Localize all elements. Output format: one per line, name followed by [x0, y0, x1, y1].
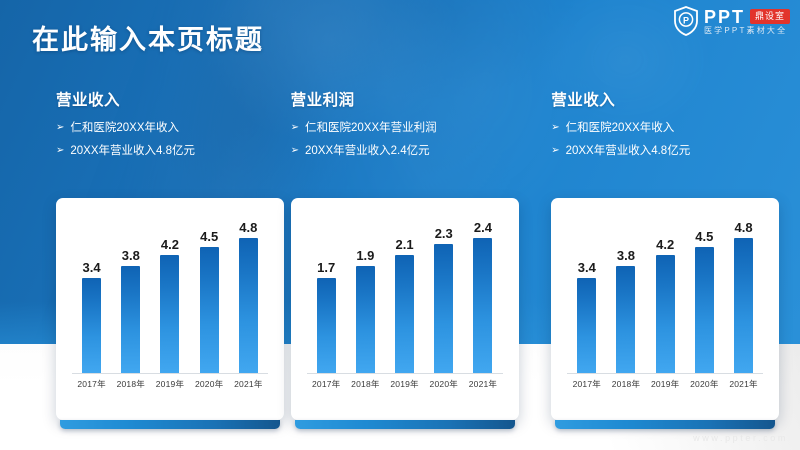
columns-container: 营业收入 ➢ 仁和医院20XX年收入 ➢ 20XX年营业收入4.8亿元 3.4	[0, 88, 800, 428]
bar-group: 2.1	[387, 216, 422, 373]
bar-group: 3.4	[569, 216, 604, 373]
column-2-title: 营业利润	[291, 88, 534, 110]
bar	[121, 266, 140, 373]
bar-group: 3.4	[74, 216, 109, 373]
bar-chart-1: 3.4 3.8 4.2 4.5	[66, 210, 274, 410]
bar-value-label: 4.5	[695, 230, 713, 243]
site-watermark: www.ppter.com	[693, 433, 788, 443]
column-3-title: 营业收入	[551, 88, 800, 110]
bar-group: 4.5	[192, 216, 227, 373]
x-tick-label: 2018年	[608, 378, 643, 390]
x-tick-label: 2019年	[648, 378, 683, 390]
bar	[239, 238, 258, 373]
bullet-text: 仁和医院20XX年营业利润	[305, 121, 437, 137]
x-tick-label: 2018年	[348, 378, 383, 390]
x-tick-label: 2018年	[113, 378, 148, 390]
bar-chart-3: 3.4 3.8 4.2 4.5	[561, 210, 769, 410]
bar	[577, 278, 596, 373]
card-1-accent-bar	[60, 420, 280, 429]
chevron-bullet-icon: ➢	[291, 144, 299, 159]
x-tick-label: 2020年	[687, 378, 722, 390]
shield-icon: P	[673, 6, 699, 36]
chevron-bullet-icon: ➢	[551, 144, 559, 159]
bar	[616, 266, 635, 373]
x-tick-label: 2017年	[309, 378, 344, 390]
bar-value-label: 4.2	[161, 238, 179, 251]
chart-card-1: 3.4 3.8 4.2 4.5	[56, 198, 284, 420]
chevron-bullet-icon: ➢	[551, 121, 559, 136]
x-tick-label: 2019年	[387, 378, 422, 390]
column-1-bullets: ➢ 仁和医院20XX年收入 ➢ 20XX年营业收入4.8亿元	[56, 121, 267, 159]
bar	[82, 278, 101, 373]
bullet-text: 仁和医院20XX年收入	[70, 121, 179, 137]
svg-text:P: P	[683, 15, 689, 25]
bar-value-label: 2.3	[435, 227, 453, 240]
chevron-bullet-icon: ➢	[291, 121, 299, 136]
bar-group: 4.8	[726, 216, 761, 373]
brand-logo: P PPT 鼎设室 医学PPT素材大全	[673, 6, 790, 36]
column-1-title: 营业收入	[56, 88, 267, 110]
bar-group: 4.5	[687, 216, 722, 373]
bar-value-label: 3.4	[578, 261, 596, 274]
bar	[395, 255, 414, 373]
bar-group: 1.7	[309, 216, 344, 373]
chart-2-x-axis: 2017年 2018年 2019年 2020年 2021年	[307, 378, 503, 390]
chart-card-2: 1.7 1.9 2.1 2.3	[291, 198, 519, 420]
bullet-text: 20XX年营业收入2.4亿元	[305, 144, 430, 160]
chart-2-plot-area: 1.7 1.9 2.1 2.3	[307, 216, 503, 374]
bar-group: 3.8	[608, 216, 643, 373]
logo-subtitle: 医学PPT素材大全	[704, 27, 790, 35]
chevron-bullet-icon: ➢	[56, 144, 64, 159]
bar	[473, 238, 492, 373]
bar-value-label: 3.8	[617, 249, 635, 262]
bar	[356, 266, 375, 373]
chart-1-plot-area: 3.4 3.8 4.2 4.5	[72, 216, 268, 374]
list-item: ➢ 20XX年营业收入4.8亿元	[56, 144, 267, 160]
bar-group: 2.4	[465, 216, 500, 373]
bar-chart-2: 1.7 1.9 2.1 2.3	[301, 210, 509, 410]
list-item: ➢ 仁和医院20XX年营业利润	[291, 121, 534, 137]
bar-group: 4.8	[231, 216, 266, 373]
x-tick-label: 2021年	[465, 378, 500, 390]
bar-value-label: 1.9	[356, 249, 374, 262]
bar	[656, 255, 675, 373]
chevron-bullet-icon: ➢	[56, 121, 64, 136]
chart-3-x-axis: 2017年 2018年 2019年 2020年 2021年	[567, 378, 763, 390]
logo-badge: 鼎设室	[750, 9, 790, 24]
chart-1-x-axis: 2017年 2018年 2019年 2020年 2021年	[72, 378, 268, 390]
bar	[734, 238, 753, 373]
column-2: 营业利润 ➢ 仁和医院20XX年营业利润 ➢ 20XX年营业收入2.4亿元 1.…	[267, 88, 534, 428]
bar	[434, 244, 453, 373]
bar	[317, 278, 336, 373]
x-tick-label: 2021年	[726, 378, 761, 390]
column-1: 营业收入 ➢ 仁和医院20XX年收入 ➢ 20XX年营业收入4.8亿元 3.4	[0, 88, 267, 428]
bar-value-label: 2.4	[474, 221, 492, 234]
bullet-text: 20XX年营业收入4.8亿元	[566, 144, 691, 160]
page-title: 在此输入本页标题	[32, 18, 264, 57]
bar	[200, 247, 219, 373]
slide-canvas: 在此输入本页标题 P PPT 鼎设室 医学PPT素材大全 营业收入 ➢ 仁和医院	[0, 0, 800, 450]
chart-3-plot-area: 3.4 3.8 4.2 4.5	[567, 216, 763, 374]
bar-value-label: 4.8	[734, 221, 752, 234]
list-item: ➢ 20XX年营业收入4.8亿元	[551, 144, 800, 160]
column-2-bullets: ➢ 仁和医院20XX年营业利润 ➢ 20XX年营业收入2.4亿元	[291, 121, 534, 159]
bar-value-label: 1.7	[317, 261, 335, 274]
x-tick-label: 2021年	[231, 378, 266, 390]
bar	[695, 247, 714, 373]
bar-value-label: 3.8	[122, 249, 140, 262]
list-item: ➢ 20XX年营业收入2.4亿元	[291, 144, 534, 160]
chart-card-3: 3.4 3.8 4.2 4.5	[551, 198, 779, 420]
bar-group: 3.8	[113, 216, 148, 373]
x-tick-label: 2020年	[426, 378, 461, 390]
bar-group: 2.3	[426, 216, 461, 373]
logo-primary-row: PPT 鼎设室	[704, 8, 790, 26]
bar-group: 4.2	[648, 216, 683, 373]
logo-text-block: PPT 鼎设室 医学PPT素材大全	[704, 8, 790, 35]
bar	[160, 255, 179, 373]
bar-value-label: 4.2	[656, 238, 674, 251]
card-3-accent-bar	[555, 420, 775, 429]
x-tick-label: 2020年	[192, 378, 227, 390]
bullet-text: 仁和医院20XX年收入	[566, 121, 675, 137]
bar-group: 1.9	[348, 216, 383, 373]
bar-value-label: 4.5	[200, 230, 218, 243]
column-3-bullets: ➢ 仁和医院20XX年收入 ➢ 20XX年营业收入4.8亿元	[551, 121, 800, 159]
x-tick-label: 2017年	[569, 378, 604, 390]
list-item: ➢ 仁和医院20XX年收入	[56, 121, 267, 137]
bar-value-label: 2.1	[396, 238, 414, 251]
bar-value-label: 3.4	[83, 261, 101, 274]
card-2-accent-bar	[295, 420, 515, 429]
column-3: 营业收入 ➢ 仁和医院20XX年收入 ➢ 20XX年营业收入4.8亿元 3.4	[533, 88, 800, 428]
bullet-text: 20XX年营业收入4.8亿元	[70, 144, 195, 160]
list-item: ➢ 仁和医院20XX年收入	[551, 121, 800, 137]
bar-group: 4.2	[152, 216, 187, 373]
x-tick-label: 2019年	[152, 378, 187, 390]
logo-brand-text: PPT	[704, 8, 745, 26]
x-tick-label: 2017年	[74, 378, 109, 390]
bar-value-label: 4.8	[239, 221, 257, 234]
